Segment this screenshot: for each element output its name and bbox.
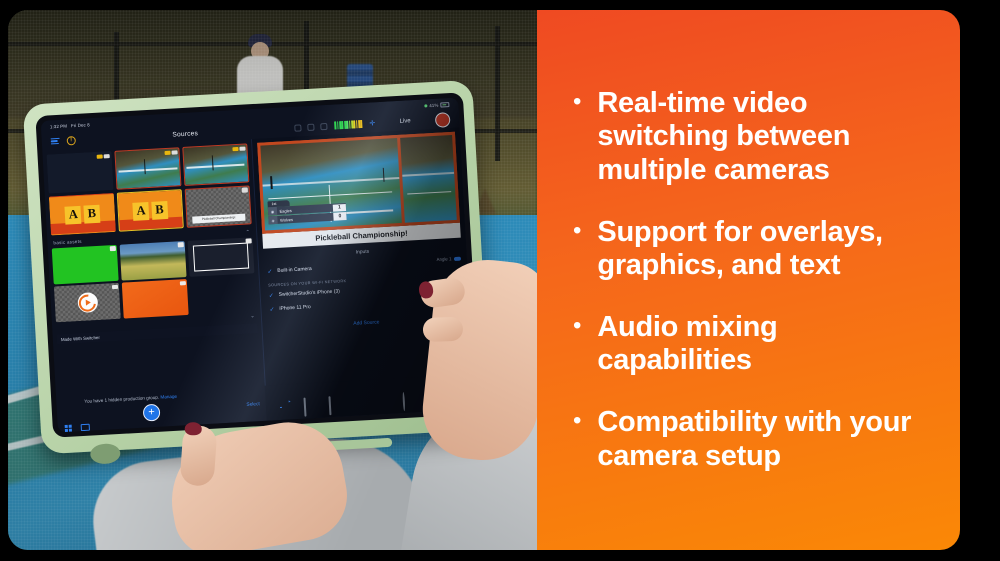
asset-orange-bg[interactable] — [122, 279, 189, 319]
status-battery-pct: 41% — [429, 103, 438, 108]
mixer-icon[interactable] — [353, 395, 362, 403]
camera-icon[interactable] — [279, 400, 288, 408]
select-button[interactable]: Select — [246, 402, 260, 408]
net-post — [382, 168, 384, 183]
hidden-group-note: You have 1 hidden production group. Mana… — [84, 394, 177, 404]
asset-green-screen[interactable] — [52, 244, 119, 284]
asset-field-video[interactable] — [119, 241, 186, 281]
status-recording-dot — [424, 104, 427, 107]
input-label: Built-in Camera — [277, 266, 312, 274]
tile-type-icon — [239, 146, 245, 151]
tile-type-icon — [171, 150, 177, 155]
program-side-feed — [400, 135, 457, 223]
chevron-down-icon[interactable]: ⌄ — [250, 313, 255, 319]
tile-badge-icon — [164, 150, 170, 155]
angle-toggle-icon[interactable] — [454, 256, 461, 260]
tile-badge-icon — [96, 154, 102, 159]
sources-column: A B A B Pickleball Championship! — [42, 139, 264, 397]
tile-type-icon — [103, 154, 109, 159]
checkmark-icon: ✓ — [269, 306, 275, 313]
bullet-dot-icon: • — [573, 406, 581, 436]
add-button[interactable]: + — [143, 404, 161, 422]
record-button[interactable] — [435, 112, 451, 128]
hidden-group-text: You have 1 hidden production group. — [84, 395, 159, 404]
score-letter: A — [65, 205, 82, 224]
bullet-item: • Audio mixing capabilities — [573, 311, 934, 378]
frame-outline — [192, 242, 249, 271]
bluetooth-icon[interactable]: ✛ — [369, 119, 375, 127]
asset-type-icon — [112, 284, 118, 289]
asset-type-icon — [179, 281, 185, 286]
product-photo: 1:32 PM Fri Dec 8 41% ! Sources — [8, 10, 537, 550]
finger — [423, 317, 464, 342]
grid-icon[interactable] — [65, 425, 72, 432]
asset-type-icon — [245, 238, 251, 243]
tile-type-icon — [241, 187, 247, 192]
header-icon-group[interactable] — [295, 122, 328, 131]
play-triangle-icon — [86, 299, 91, 305]
output-icon[interactable] — [304, 398, 313, 406]
footer-icon-group — [65, 424, 90, 432]
checkmark-icon: ✓ — [269, 292, 275, 299]
asset-frame-overlay[interactable] — [187, 237, 254, 277]
feature-bullet-panel: • Real-time video switching between mult… — [537, 10, 960, 550]
fingernail — [185, 422, 202, 436]
sources-grid: A B A B Pickleball Championship! — [42, 139, 256, 237]
status-time: 1:32 PM — [50, 123, 67, 129]
bullet-text: Support for overlays, graphics, and text — [597, 216, 934, 283]
slide-card: 1:32 PM Fri Dec 8 41% ! Sources — [8, 10, 960, 550]
status-date: Fri Dec 8 — [71, 122, 90, 128]
chevron-up-icon[interactable]: ⌃ — [246, 229, 251, 235]
bullet-text: Compatibility with your camera setup — [597, 406, 934, 473]
court-line — [407, 191, 451, 195]
manage-link[interactable]: Manage — [160, 394, 177, 400]
live-label: Live — [382, 117, 428, 126]
switcher-logo-icon — [77, 292, 98, 313]
source-tile-scoreboard-b[interactable]: A B — [117, 189, 184, 232]
checkmark-icon: ✓ — [267, 268, 273, 275]
source-tile-empty[interactable] — [47, 151, 114, 194]
source-tile-scoreboard-a[interactable]: A B — [49, 192, 116, 235]
asset-switcher-logo[interactable] — [54, 283, 121, 323]
team-logo-icon: ◈ — [268, 216, 277, 224]
transition-icon[interactable] — [378, 394, 387, 402]
score-letter: B — [151, 200, 168, 219]
angle-indicator[interactable]: Angle 1 — [436, 256, 461, 262]
share-icon[interactable] — [320, 122, 327, 129]
source-tile-camera-1[interactable] — [114, 147, 181, 190]
tablet-screen: 1:32 PM Fri Dec 8 41% ! Sources — [41, 98, 476, 433]
input-label: iPhone 11 Pro — [279, 304, 311, 312]
bullet-item: • Real-time video switching between mult… — [573, 87, 934, 188]
scorebug-overlay: 1st ◉ Eagles 1 ◈ Wolves — [267, 197, 346, 225]
tablet-device: 1:32 PM Fri Dec 8 41% ! Sources — [35, 92, 480, 437]
team-score: 1 — [333, 204, 346, 212]
warning-icon[interactable]: ! — [66, 135, 75, 144]
battery-icon — [440, 102, 449, 107]
record-icon[interactable] — [402, 393, 411, 401]
card-icon[interactable] — [81, 424, 90, 431]
asset-type-icon — [110, 246, 116, 251]
assets-grid — [48, 236, 261, 324]
slide-root: 1:32 PM Fri Dec 8 41% ! Sources — [0, 0, 1000, 561]
bullet-dot-icon: • — [573, 216, 581, 246]
program-preview[interactable]: 1st ◉ Eagles 1 ◈ Wolves — [257, 132, 460, 234]
input-label: SwitcherStudio's iPhone (3) — [279, 288, 341, 297]
team-logo-icon: ◉ — [268, 207, 277, 215]
court-net — [263, 177, 400, 186]
team-name: Wolves — [277, 214, 333, 222]
lower-third-caption: Pickleball Championship! — [192, 213, 246, 223]
audio-level-meter — [334, 120, 362, 130]
app-body: A B A B Pickleball Championship! — [42, 128, 473, 398]
program-main-feed: 1st ◉ Eagles 1 ◈ Wolves — [260, 138, 402, 231]
settings-icon[interactable] — [295, 124, 302, 131]
bullet-dot-icon: • — [573, 311, 581, 341]
tile-badge-icon — [232, 146, 238, 151]
bullet-text: Real-time video switching between multip… — [597, 87, 934, 188]
team-score: 0 — [333, 212, 346, 220]
media-icon[interactable] — [329, 397, 338, 405]
bullet-dot-icon: • — [573, 87, 581, 117]
net-post — [270, 176, 272, 190]
layout-icon[interactable] — [307, 123, 314, 130]
tablet-bezel: 1:32 PM Fri Dec 8 41% ! Sources — [35, 92, 480, 437]
bullet-item: • Compatibility with your camera setup — [573, 406, 934, 473]
bullet-text: Audio mixing capabilities — [597, 311, 934, 378]
right-hand — [418, 255, 537, 466]
court-net — [402, 172, 454, 176]
source-tile-lower-third[interactable]: Pickleball Championship! — [184, 185, 251, 228]
bullet-item: • Support for overlays, graphics, and te… — [573, 216, 934, 283]
score-letter: B — [83, 204, 100, 223]
asset-type-icon — [177, 242, 183, 247]
assets-section-label: basic assets — [53, 239, 82, 246]
angle-label: Angle 1 — [436, 256, 451, 262]
score-letter: A — [133, 202, 150, 221]
source-tile-camera-2[interactable] — [182, 143, 249, 186]
hamburger-icon[interactable] — [51, 137, 60, 144]
